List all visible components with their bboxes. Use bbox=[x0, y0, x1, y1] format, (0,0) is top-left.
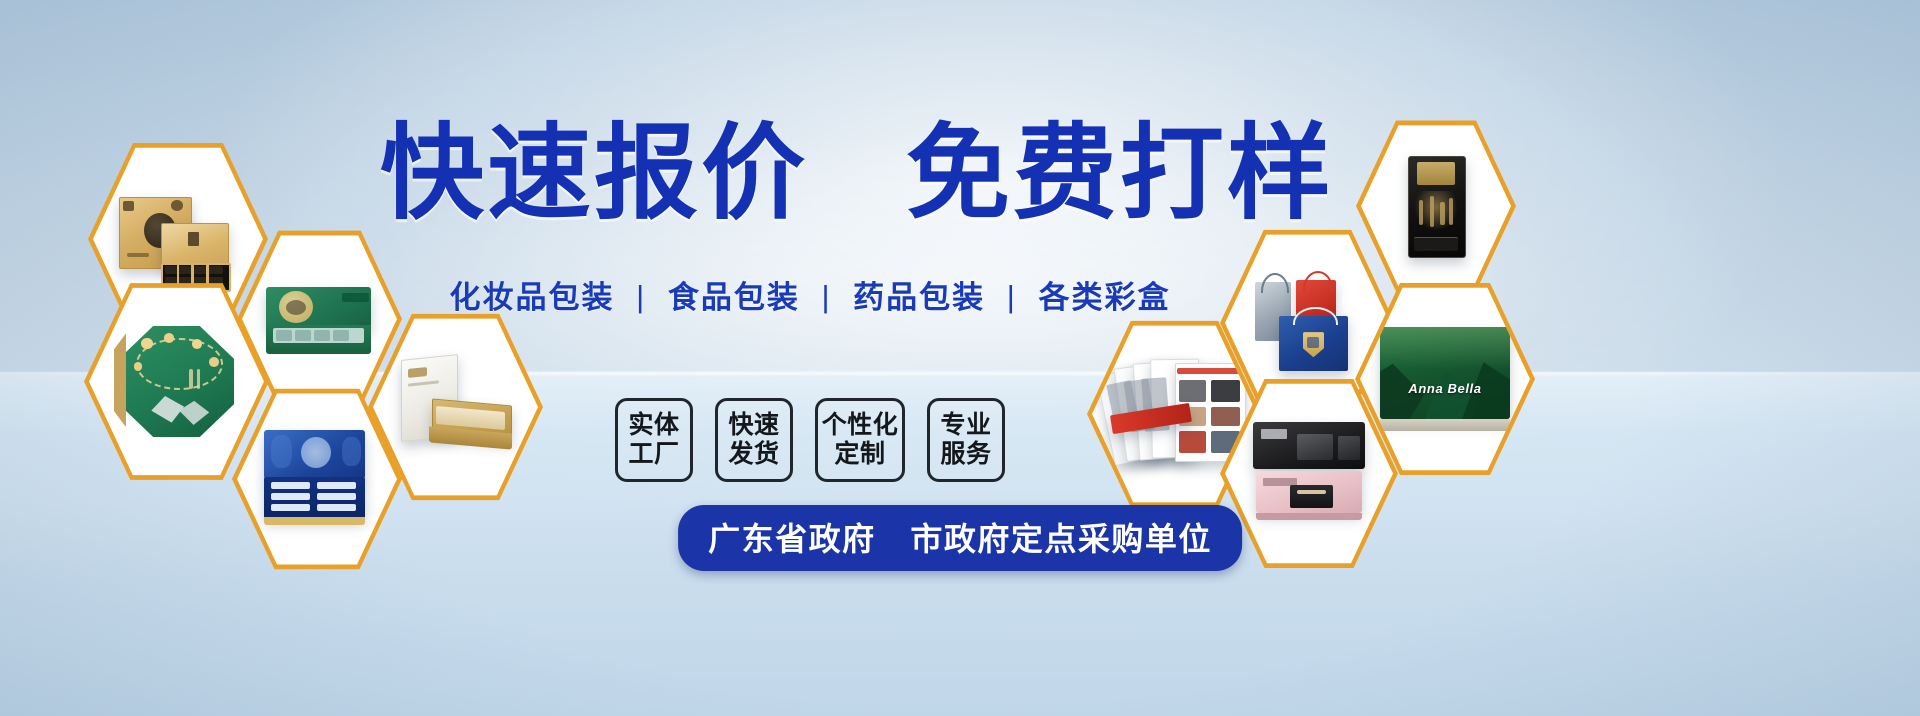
gov-badge-text-2: 市政府定点采购单位 bbox=[910, 521, 1212, 557]
feature-badge-professional-service: 专业 服务 bbox=[927, 398, 1005, 482]
page-title: 快速报价 免费打样 bbox=[380, 118, 1240, 230]
product-shopping-bag-set bbox=[1248, 266, 1367, 380]
headline-part-2: 免费打样 bbox=[906, 116, 1334, 232]
feature-badge-line-2: 工厂 bbox=[628, 440, 679, 470]
product-green-tea-gift-box bbox=[264, 265, 376, 373]
feature-badge-line-1: 个性化 bbox=[822, 411, 899, 441]
product-blue-gift-box bbox=[259, 424, 374, 534]
feature-badge-line-2: 服务 bbox=[940, 440, 991, 470]
subtitle-separator: | bbox=[636, 279, 646, 315]
feature-badge-custom-made: 个性化 定制 bbox=[815, 398, 905, 482]
subtitle-separator: | bbox=[821, 279, 831, 315]
product-label-anna-bella: Anna Bella bbox=[1388, 381, 1502, 396]
feature-badge-list: 实体 工厂 快速 发货 个性化 定制 专业 服务 bbox=[380, 398, 1240, 482]
subtitle-category-list: 化妆品包装 | 食品包装 | 药品包装 | 各类彩盒 bbox=[380, 272, 1240, 317]
feature-badge-real-factory: 实体 工厂 bbox=[615, 398, 693, 482]
headline-part-1: 快速报价 bbox=[380, 116, 808, 232]
product-green-cosmetic-box-anna-bella: Anna Bella bbox=[1377, 320, 1513, 438]
gov-badge-text-1: 广东省政府 bbox=[708, 521, 876, 557]
subtitle-separator: | bbox=[1007, 279, 1017, 315]
product-black-gold-wine-box bbox=[1382, 154, 1490, 258]
promo-banner: Anna Bella bbox=[0, 0, 1920, 716]
feature-badge-line-2: 发货 bbox=[728, 440, 779, 470]
feature-badge-line-1: 实体 bbox=[628, 411, 679, 441]
product-black-pink-cosmetic-boxes bbox=[1249, 416, 1370, 532]
subtitle-item-1: 食品包装 bbox=[668, 280, 800, 315]
feature-badge-line-2: 定制 bbox=[834, 440, 885, 470]
subtitle-item-0: 化妆品包装 bbox=[450, 280, 615, 315]
feature-badge-line-1: 快速 bbox=[728, 411, 779, 441]
subtitle-item-3: 各类彩盒 bbox=[1038, 280, 1170, 315]
product-green-octagon-mooncake-box bbox=[114, 321, 240, 442]
feature-badge-line-1: 专业 bbox=[940, 411, 991, 441]
subtitle-item-2: 药品包装 bbox=[853, 280, 985, 315]
gov-procurement-badge: 广东省政府 市政府定点采购单位 bbox=[678, 505, 1242, 571]
product-gold-gift-box-set bbox=[117, 180, 239, 298]
feature-badge-fast-shipping: 快速 发货 bbox=[715, 398, 793, 482]
